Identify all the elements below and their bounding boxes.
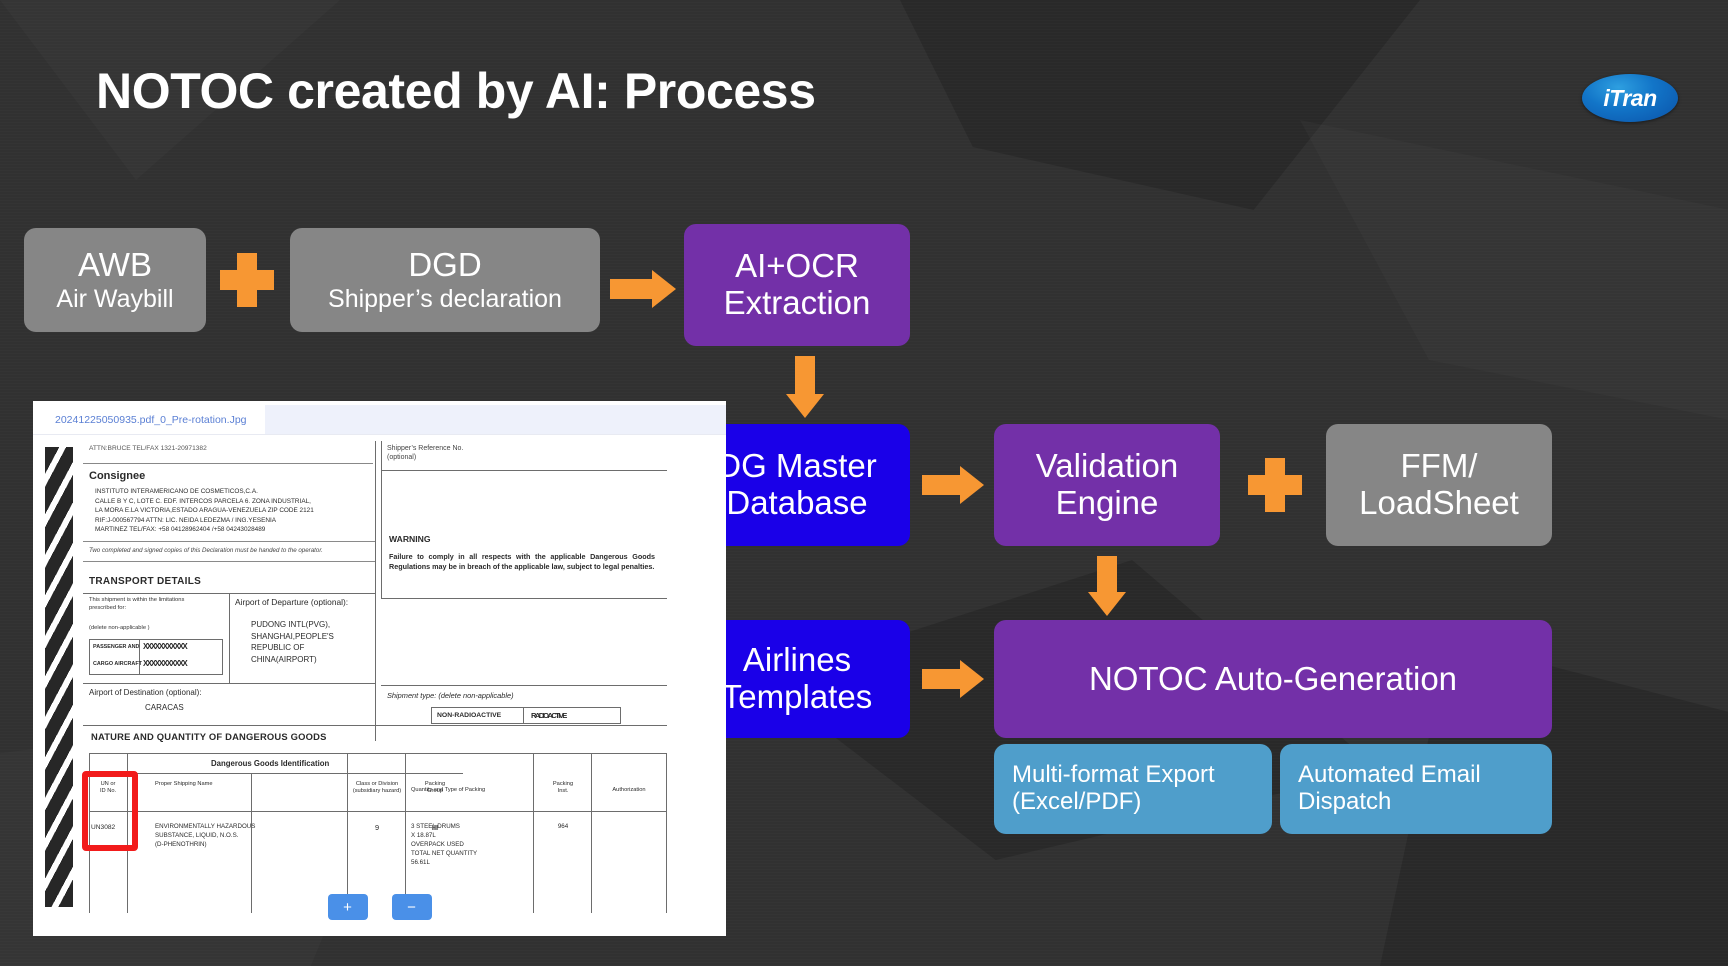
doc-dg-header-shipping-name: Proper Shipping Name [155, 781, 247, 788]
document-zoom-controls: + − [33, 894, 726, 920]
doc-delete-note: (delete non-applicable ) [89, 625, 150, 633]
flow-node-dg-master-line1: DG Master [717, 448, 877, 485]
flow-node-notoc-auto-generation[interactable]: NOTOC Auto-Generation [994, 620, 1552, 738]
logo-text: iTran [1603, 87, 1656, 110]
flow-node-dgd-subtitle: Shipper’s declaration [328, 285, 562, 313]
doc-radioactive-crossed: RADIOACTIVE [531, 711, 566, 721]
doc-divider [381, 685, 667, 686]
doc-dg-header-class-division: Class or Division (subsidiary hazard) [349, 781, 405, 796]
document-filename-tab[interactable]: 20241225050935.pdf_0_Pre-rotation.Jpg [43, 405, 259, 434]
doc-divider [591, 753, 592, 913]
doc-transport-details-heading: TRANSPORT DETAILS [89, 575, 201, 589]
doc-dg-cell-shipping-name: ENVIRONMENTALLY HAZARDOUS SUBSTANCE, LIQ… [155, 823, 255, 850]
background-facet [1300, 120, 1728, 420]
zoom-in-button[interactable]: + [328, 894, 368, 920]
doc-destination-value: CARACAS [145, 703, 184, 714]
doc-two-copies-note: Two completed and signed copies of this … [89, 547, 323, 555]
arrow-dgd-to-aiocr [610, 270, 676, 308]
doc-divider [83, 683, 375, 684]
arrow-aiocr-to-dgmaster [786, 356, 824, 418]
flow-node-validation-line2: Engine [1056, 485, 1159, 522]
doc-dg-cell-quantity-type: 3 STEEL DRUMS X 18.87L OVERPACK USED TOT… [411, 823, 477, 868]
doc-departure-value: PUDONG INTL(PVG), SHANGHAI,PEOPLE'S REPU… [251, 619, 334, 665]
arrow-validation-to-notoc [1088, 556, 1126, 616]
flow-node-ffm-loadsheet[interactable]: FFM/ LoadSheet [1326, 424, 1552, 546]
doc-un-number-highlight-box [82, 771, 138, 851]
flow-node-ffm-line2: LoadSheet [1359, 485, 1519, 522]
document-viewer-panel[interactable]: 20241225050935.pdf_0_Pre-rotation.Jpg AT… [33, 401, 726, 936]
flow-node-ffm-line1: FFM/ [1401, 448, 1478, 485]
flow-node-automated-email-dispatch[interactable]: Automated Email Dispatch [1280, 744, 1552, 834]
doc-destination-label: Airport of Destination (optional): [89, 688, 202, 699]
flow-node-airlines-line1: Airlines [743, 642, 851, 679]
arrow-dgmaster-to-validation [922, 466, 984, 504]
doc-shipment-type-label: Shipment type: (delete non-applicable) [387, 691, 514, 701]
doc-divider [83, 541, 375, 542]
zoom-out-button[interactable]: − [392, 894, 432, 920]
doc-nature-quantity-heading: NATURE AND QUANTITY OF DANGEROUS GOODS [91, 731, 327, 744]
doc-divider [127, 773, 463, 774]
doc-dg-header-authorization: Authorization [593, 787, 665, 794]
doc-divider [405, 753, 406, 913]
doc-dg-header-quantity-type: Quantity and Type of Packing [411, 787, 485, 794]
flow-node-airlines-line2: Templates [722, 679, 872, 716]
document-filmstrip-edge [45, 447, 73, 907]
flow-node-ai-ocr-line1: AI+OCR [735, 248, 859, 285]
doc-divider [83, 561, 375, 562]
flow-node-validation-engine[interactable]: Validation Engine [994, 424, 1220, 546]
flow-node-awb-title: AWB [78, 247, 152, 284]
flow-node-notoc-label: NOTOC Auto-Generation [1089, 661, 1457, 698]
page-title: NOTOC created by AI: Process [96, 62, 816, 120]
doc-divider [83, 725, 667, 726]
doc-dg-identification-heading: Dangerous Goods Identification [211, 759, 329, 770]
flow-node-awb[interactable]: AWB Air Waybill [24, 228, 206, 332]
doc-consignee-body: INSTITUTO INTERAMERICANO DE COSMETICOS,C… [95, 487, 314, 535]
doc-dg-cell-packing-inst: 964 [535, 823, 591, 832]
doc-non-radioactive: NON-RADIOACTIVE [437, 711, 501, 720]
doc-divider [83, 463, 373, 464]
flow-node-dgd[interactable]: DGD Shipper’s declaration [290, 228, 600, 332]
flow-node-ai-ocr-extraction[interactable]: AI+OCR Extraction [684, 224, 910, 346]
doc-divider [347, 753, 348, 913]
doc-attn-line: ATTN:BRUCE TEL/FAX 1321-20971382 [89, 445, 207, 454]
flow-node-export-line1: Multi-format Export [1012, 762, 1215, 789]
doc-divider [523, 707, 524, 724]
doc-passenger-crossed: XXXXXXXXXXX [143, 642, 186, 653]
doc-dg-header-packing-inst: Packing Inst. [535, 781, 591, 796]
doc-divider [533, 753, 534, 913]
flow-node-dg-master-line2: Database [726, 485, 867, 522]
flow-node-email-line2: Dispatch [1298, 789, 1391, 816]
doc-shipper-ref-label: Shipper’s Reference No. (optional) [387, 444, 463, 463]
doc-cargo-crossed: XXXXXXXXXXX [143, 659, 186, 670]
document-tab-filler [265, 405, 726, 434]
itran-logo: iTran [1582, 74, 1678, 122]
doc-warning-heading: WARNING [389, 534, 431, 546]
flow-node-validation-line1: Validation [1036, 448, 1179, 485]
doc-warning-body: Failure to comply in all respects with t… [389, 552, 655, 573]
flow-node-email-line1: Automated Email [1298, 762, 1481, 789]
flow-node-awb-subtitle: Air Waybill [56, 285, 173, 313]
flow-node-multi-format-export[interactable]: Multi-format Export (Excel/PDF) [994, 744, 1272, 834]
dgd-document-page: ATTN:BRUCE TEL/FAX 1321-20971382 Shipper… [81, 441, 671, 921]
flow-node-export-line2: (Excel/PDF) [1012, 789, 1141, 816]
doc-divider [89, 811, 667, 812]
arrow-airlines-to-notoc [922, 660, 984, 698]
flow-node-ai-ocr-line2: Extraction [724, 285, 871, 322]
flow-node-dgd-title: DGD [408, 247, 481, 284]
doc-passenger-label: PASSENGER AND [93, 644, 139, 651]
doc-limitations-text: This shipment is within the limitations … [89, 597, 199, 613]
doc-cargo-label: CARGO AIRCRAFT [93, 661, 142, 668]
plus-connector-validation-ffm [1248, 458, 1302, 512]
doc-departure-label: Airport of Departure (optional): [235, 597, 348, 608]
doc-divider [375, 441, 376, 741]
doc-dg-cell-class-division: 9 [349, 823, 405, 834]
doc-consignee-heading: Consignee [89, 469, 145, 484]
doc-divider [229, 593, 230, 683]
plus-connector-awb-dgd [220, 253, 274, 307]
document-tab-bar: 20241225050935.pdf_0_Pre-rotation.Jpg [33, 401, 726, 435]
